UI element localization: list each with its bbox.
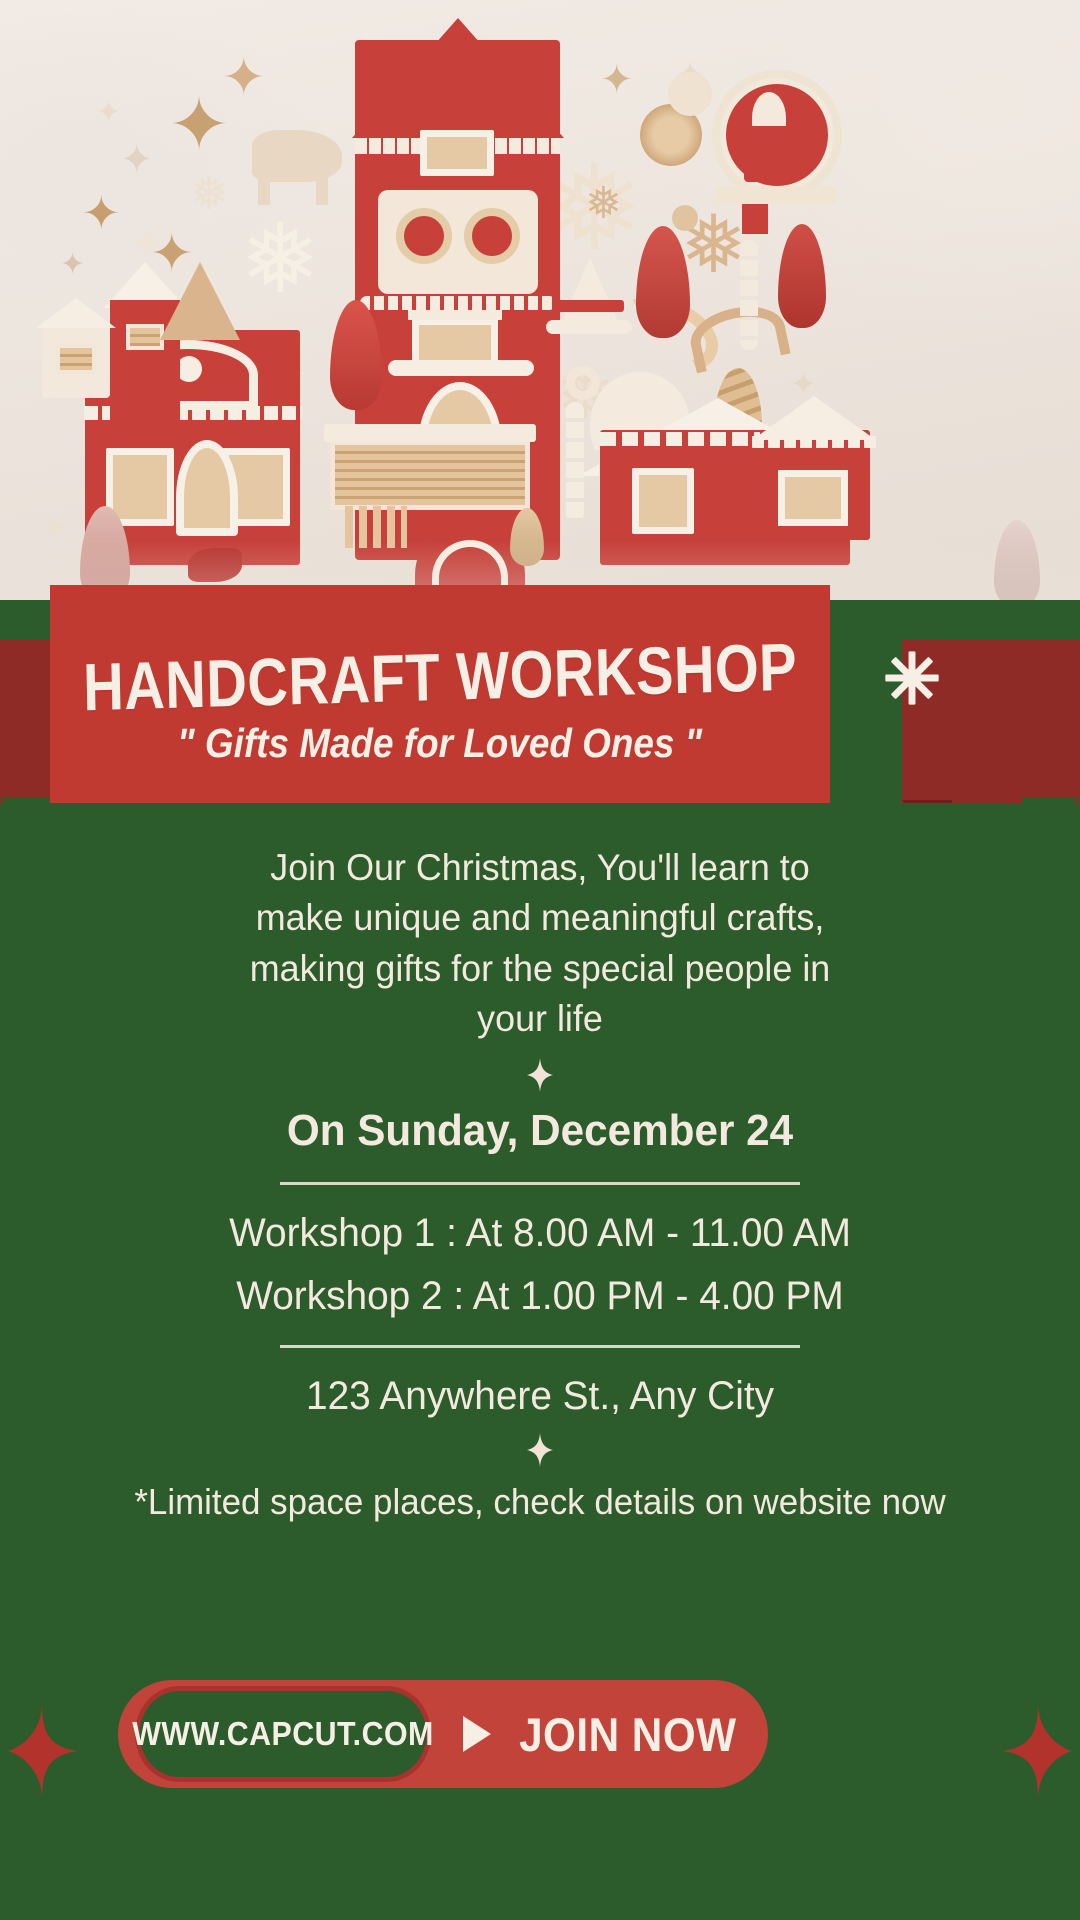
far-right-house-window bbox=[778, 470, 848, 526]
page-title: HANDCRAFT WORKSHOP bbox=[82, 629, 798, 727]
limited-space-note: *Limited space places, check details on … bbox=[16, 1481, 1064, 1523]
cone-hat-stripe bbox=[556, 300, 624, 312]
tower-window bbox=[126, 324, 164, 350]
bead-icon bbox=[672, 205, 698, 231]
diamond-ornament-right-icon bbox=[1002, 1703, 1072, 1799]
join-now-label: JOIN NOW bbox=[519, 1707, 736, 1762]
wooden-shutter-panel bbox=[330, 440, 530, 510]
title-row: HANDCRAFT WORKSHOP bbox=[50, 639, 830, 716]
bead-trim bbox=[360, 296, 556, 310]
wooden-star-icon: ✦ bbox=[168, 88, 230, 162]
wooden-star-icon: ✦ bbox=[222, 52, 266, 104]
swirl-left bbox=[396, 208, 452, 264]
bead-string bbox=[566, 402, 584, 522]
poster-root: ✦ ✦ ✦ ✦ ✦ ✦ ✦ ✦ ✦ ✦ ✦ ✦ ✦ ✦ ✦ ✦ ✦ ❅ ❅ ❅ … bbox=[0, 0, 1080, 1920]
wooden-star-icon: ✦ bbox=[96, 98, 121, 128]
paper-ball-icon bbox=[668, 72, 712, 116]
title-banner: HANDCRAFT WORKSHOP " Gifts Made for Love… bbox=[50, 585, 830, 803]
wooden-snowflake-icon: ❅ bbox=[585, 182, 622, 226]
attic-window bbox=[420, 130, 494, 176]
wooden-pyramid bbox=[160, 262, 240, 340]
swirl-right bbox=[464, 208, 520, 264]
cta-bar: WWW.CAPCUT.COM JOIN NOW bbox=[118, 1680, 768, 1788]
website-url-button[interactable]: WWW.CAPCUT.COM bbox=[135, 1686, 431, 1782]
cone-hat-brim bbox=[546, 320, 632, 334]
wooden-star-icon: ✦ bbox=[600, 60, 634, 100]
right-house-window bbox=[632, 468, 694, 534]
paper-cone-hat bbox=[560, 258, 620, 326]
santa-shelf-bracket bbox=[742, 204, 768, 234]
join-now-button[interactable]: JOIN NOW bbox=[444, 1707, 768, 1762]
santa-body bbox=[744, 126, 794, 182]
intro-paragraph: Join Our Christmas, You'll learn to make… bbox=[230, 843, 851, 1044]
far-right-house-roof bbox=[752, 396, 876, 440]
bead-string bbox=[740, 240, 758, 350]
snowflake-asterisk-icon bbox=[883, 649, 941, 707]
wooden-star-icon: ✦ bbox=[60, 250, 85, 280]
divider-rule-bottom bbox=[280, 1345, 800, 1348]
awning bbox=[388, 360, 534, 376]
small-lantern-window bbox=[56, 344, 96, 374]
reindeer-leg bbox=[258, 175, 270, 205]
schedule-row-1: Workshop 1 : At 8.00 AM - 11.00 AM bbox=[16, 1211, 1064, 1256]
wooden-star-icon: ✦ bbox=[82, 190, 121, 236]
divider-rule-top bbox=[280, 1182, 800, 1185]
paper-umbrella-handle bbox=[566, 366, 600, 400]
santa-shelf bbox=[716, 186, 836, 204]
christmas-papercraft-village-photo: ✦ ✦ ✦ ✦ ✦ ✦ ✦ ✦ ✦ ✦ ✦ ✦ ✦ ✦ ✦ ✦ ✦ ❅ ❅ ❅ … bbox=[0, 0, 1080, 600]
reindeer-leg bbox=[316, 175, 328, 205]
event-date: On Sunday, December 24 bbox=[22, 1106, 1059, 1156]
shutter-top-rail bbox=[324, 424, 536, 442]
play-triangle-icon bbox=[463, 1716, 491, 1752]
wooden-star-icon: ✦ bbox=[120, 140, 154, 180]
four-point-sparkle-icon bbox=[527, 1058, 553, 1092]
paper-snowflake-icon: ❅ bbox=[240, 212, 320, 308]
schedule-row-2: Workshop 2 : At 1.00 PM - 4.00 PM bbox=[16, 1274, 1064, 1319]
four-point-sparkle-icon bbox=[527, 1433, 553, 1467]
candy-cane-icon bbox=[685, 299, 791, 374]
far-right-house-trim bbox=[752, 436, 878, 448]
window-lintel bbox=[408, 310, 502, 320]
event-address: 123 Anywhere St., Any City bbox=[16, 1374, 1064, 1419]
page-subtitle: " Gifts Made for Loved Ones " bbox=[177, 720, 702, 767]
bottlebrush-tree-icon bbox=[778, 224, 826, 328]
diamond-ornament-left-icon bbox=[8, 1703, 78, 1799]
small-lantern-roof bbox=[36, 298, 116, 328]
paper-snowflake-icon: ❅ bbox=[190, 170, 229, 216]
